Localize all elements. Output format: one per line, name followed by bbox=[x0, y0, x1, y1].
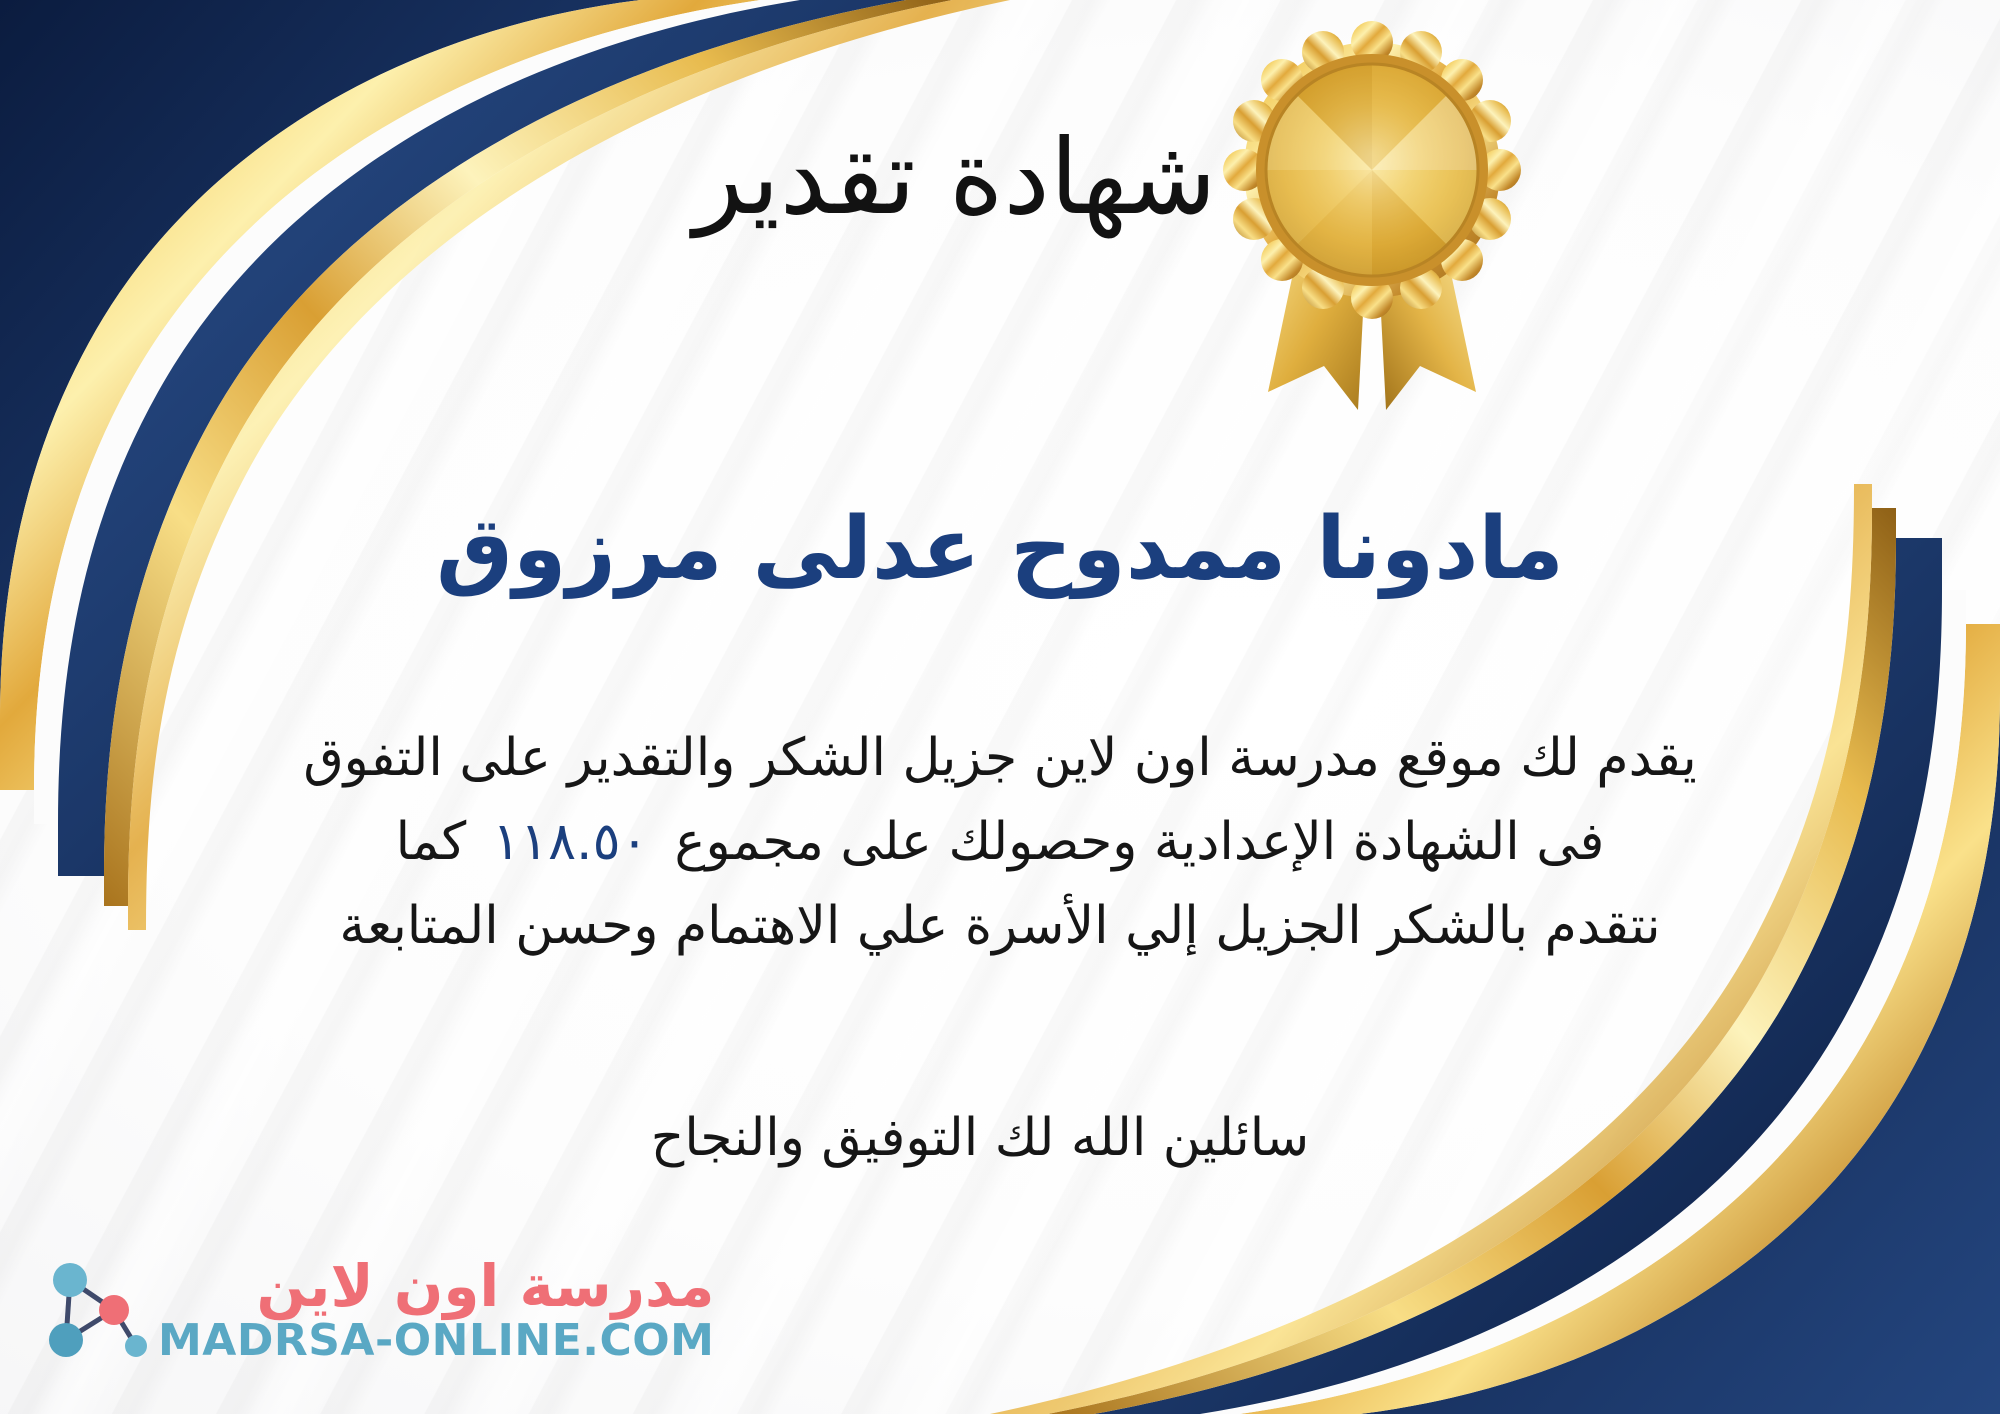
body-line-3: نتقدم بالشكر الجزيل إلي الأسرة علي الاهت… bbox=[190, 884, 1810, 968]
recipient-name: مادونا ممدوح عدلى مرزوق bbox=[0, 498, 2000, 601]
certificate-content: شهادة تقدير مادونا ممدوح عدلى مرزوق يقدم… bbox=[0, 0, 2000, 1414]
body-line-2-prefix: فى الشهادة الإعدادية وحصولك على مجموع bbox=[674, 812, 1604, 872]
body-line-1: يقدم لك موقع مدرسة اون لاين جزيل الشكر و… bbox=[190, 716, 1810, 800]
brand-text-block: مدرسة اون لاين MADRSA-ONLINE.COM bbox=[158, 1256, 714, 1365]
certificate-title: شهادة تقدير bbox=[0, 118, 2000, 238]
closing-wish-line: سائلين الله لك التوفيق والنجاح bbox=[0, 1108, 2000, 1168]
body-line-2-suffix: كما bbox=[396, 812, 467, 872]
brand-logo[interactable]: مدرسة اون لاين MADRSA-ONLINE.COM bbox=[36, 1254, 714, 1368]
certificate-canvas: شهادة تقدير مادونا ممدوح عدلى مرزوق يقدم… bbox=[0, 0, 2000, 1414]
node-graph-icon bbox=[36, 1254, 148, 1368]
grade-total-value: ١١٨.٥٠ bbox=[466, 812, 674, 872]
body-line-2: فى الشهادة الإعدادية وحصولك على مجموع١١٨… bbox=[190, 800, 1810, 884]
brand-name-english: MADRSA-ONLINE.COM bbox=[158, 1317, 714, 1365]
brand-name-arabic: مدرسة اون لاين bbox=[256, 1256, 714, 1317]
certificate-body-text: يقدم لك موقع مدرسة اون لاين جزيل الشكر و… bbox=[190, 716, 1810, 969]
